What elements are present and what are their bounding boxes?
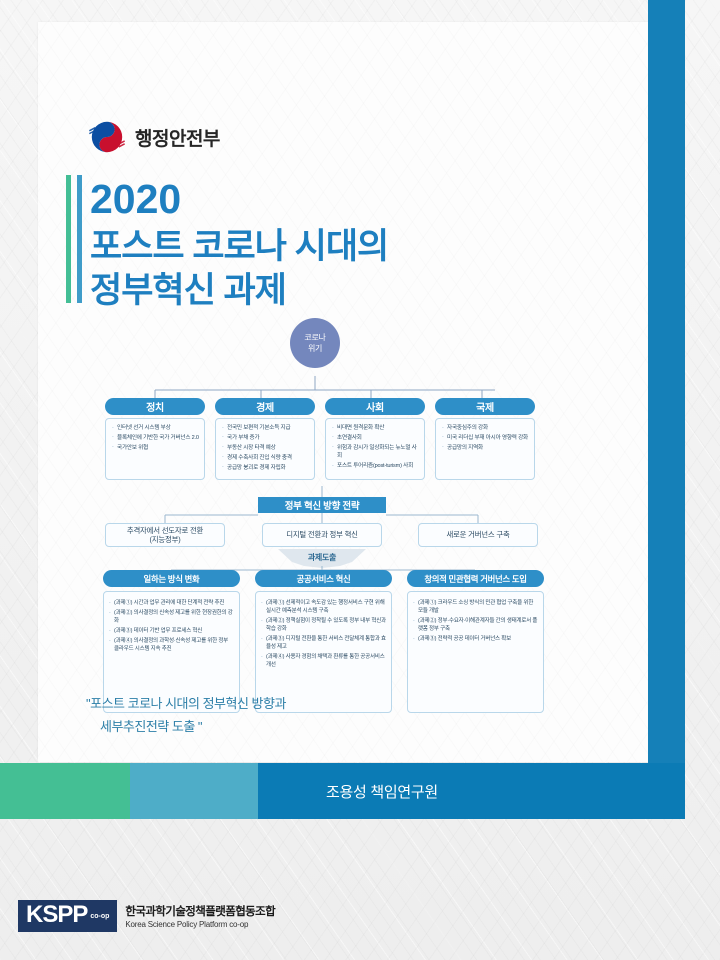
corona-label-line2: 위기 [308, 343, 322, 354]
task-title: 공공서비스 혁신 [255, 570, 392, 587]
list-item: (과제④) 의사결정의 과학성·신속성 제고를 위한 정부 클라우드 시스템 지… [108, 637, 234, 653]
accent-bar-blue [77, 175, 82, 303]
corona-crisis-node: 코로나 위기 [282, 310, 348, 376]
footer-bar-darkblue: 조용성 책임연구원 [258, 763, 685, 819]
list-item: (과제①) 크라우드 소싱 방식의 민관 협업 구축을 위한 모듈 개발 [412, 599, 538, 615]
category-box-economy: 경제 전국민 보편적 기본소득 지급 국가 부채 증가 부동산 시장 타격 예상… [215, 398, 315, 480]
list-item: 포스트 투어리즘(post-turism) 사회 [331, 462, 420, 470]
kspp-org-name: 한국과학기술정책플랫폼협동조합 Korea Science Policy Pla… [125, 903, 275, 929]
list-item: 비대면 원격문화 확산 [331, 424, 420, 432]
list-item: (과제①) 시간과 업무 관리에 대한 단계적 전략 추진 [108, 599, 234, 607]
list-item: 국가 부채 증가 [221, 434, 310, 442]
category-box-society: 사회 비대면 원격문화 확산 초연결사회 위험과 감시가 일상화되는 뉴노멀 사… [325, 398, 425, 480]
list-item: 공급망의 지역화 [441, 444, 530, 452]
list-item: 경제 수축사회 진입 식량 충격 [221, 454, 310, 462]
kspp-wordmark: KSPP co-op [18, 900, 117, 932]
list-item: (과제④) 사용자 경험의 채택과 환류를 통한 공공서비스 개선 [260, 653, 386, 669]
list-item: (과제②) 의사결정의 신속성 제고를 위한 현장권한의 강화 [108, 609, 234, 625]
kspp-name-korean: 한국과학기술정책플랫폼협동조합 [125, 903, 275, 919]
kspp-name-english: Korea Science Policy Platform co-op [125, 920, 275, 929]
ministry-branding: 행정안전부 [88, 118, 220, 156]
kspp-mark-text: KSPP [26, 902, 87, 928]
impact-categories: 정치 인터넷 선거 시스템 부상 블록체인에 기반한 국가 거버넌스 2.0 국… [105, 398, 545, 486]
corona-crisis-core: 코로나 위기 [290, 318, 340, 368]
list-item: 블록체인에 기반한 국가 거버넌스 2.0 [111, 434, 200, 442]
list-item: 국가안보 위협 [111, 444, 200, 452]
task-title: 일하는 방식 변화 [103, 570, 240, 587]
category-title: 정치 [105, 398, 205, 415]
arrow-label-task-derivation: 과제도출 [284, 551, 360, 564]
year-label: 2020 [90, 176, 181, 223]
list-item: 자국중심주의 강화 [441, 424, 530, 432]
category-title: 사회 [325, 398, 425, 415]
strategy-box-governance: 새로운 거버넌스 구축 [418, 523, 538, 547]
strategy-line1: 새로운 거버넌스 구축 [446, 530, 509, 540]
presentation-slide: 행정안전부 2020 포스트 코로나 시대의 정부혁신 과제 코로나 위기 [0, 0, 720, 886]
strategy-line1: 추격자에서 선도자로 전환 [127, 526, 203, 536]
closing-quote: "포스트 코로나 시대의 정부혁신 방향과 세부추진전략 도출 " [86, 692, 486, 738]
kspp-logo: KSPP co-op 한국과학기술정책플랫폼협동조합 Korea Science… [18, 900, 275, 932]
list-item: 위험과 감시가 일상화되는 뉴노멀 사회 [331, 444, 420, 461]
footer-bar-lightblue [130, 763, 258, 819]
list-item: 미국 리더십 부재 아시아 영향력 강화 [441, 434, 530, 442]
category-items: 인터넷 선거 시스템 부상 블록체인에 기반한 국가 거버넌스 2.0 국가안보… [105, 418, 205, 480]
footer-bar-green [0, 763, 130, 819]
presenter-name: 조용성 책임연구원 [326, 781, 438, 802]
strategy-box-digital: 디지털 전환과 정부 혁신 [262, 523, 382, 547]
list-item: (과제②) 정부·수요자·이해관계자들 간의 생태계로서 플랫폼 정부 구축 [412, 617, 538, 633]
strategy-line2: (지능정부) [150, 535, 181, 545]
list-item: 인터넷 선거 시스템 부상 [111, 424, 200, 432]
list-item: (과제③) 디지털 전환을 통한 서비스 전달체계 통합과 효율성 제고 [260, 635, 386, 651]
list-item: (과제③) 전략적 공공 데이터 거버넌스 확보 [412, 635, 538, 643]
list-item: (과제②) 정책실험이 정착될 수 있도록 정부 내부 혁신과 학습 강화 [260, 617, 386, 633]
list-item: 초연결사회 [331, 434, 420, 442]
strategy-banner: 정부 혁신 방향 전략 [258, 497, 386, 513]
ministry-name: 행정안전부 [135, 124, 220, 151]
category-items: 비대면 원격문화 확산 초연결사회 위험과 감시가 일상화되는 뉴노멀 사회 포… [325, 418, 425, 480]
kspp-coop-text: co-op [90, 904, 109, 930]
category-title: 경제 [215, 398, 315, 415]
list-item: 공급망 붕괴로 경제 자립화 [221, 464, 310, 472]
right-accent-stripe [648, 0, 685, 764]
page-title-line2: 정부혁신 과제 [90, 262, 286, 313]
list-item: (과제①) 선제적이고 속도감 있는 행정서비스 구현 위해 실시간 예측분석 … [260, 599, 386, 615]
task-title: 창의적 민관협력 거버넌스 도입 [407, 570, 544, 587]
quote-line2: 세부추진전략 도출 " [86, 715, 486, 738]
list-item: 전국민 보편적 기본소득 지급 [221, 424, 310, 432]
corona-label-line1: 코로나 [304, 332, 325, 343]
quote-line1: "포스트 코로나 시대의 정부혁신 방향과 [86, 696, 286, 711]
title-accent-bars [66, 175, 84, 303]
category-box-international: 국제 자국중심주의 강화 미국 리더십 부재 아시아 영향력 강화 공급망의 지… [435, 398, 535, 480]
list-item: (과제③) 데이터 기반 업무 프로세스 혁신 [108, 627, 234, 635]
taegeuk-logo-icon [88, 118, 126, 156]
list-item: 부동산 시장 타격 예상 [221, 444, 310, 452]
strategy-line1: 디지털 전환과 정부 혁신 [286, 530, 358, 540]
accent-bar-green [66, 175, 71, 303]
category-box-politics: 정치 인터넷 선거 시스템 부상 블록체인에 기반한 국가 거버넌스 2.0 국… [105, 398, 205, 480]
strategy-box-leader: 추격자에서 선도자로 전환 (지능정부) [105, 523, 225, 547]
category-title: 국제 [435, 398, 535, 415]
category-items: 전국민 보편적 기본소득 지급 국가 부채 증가 부동산 시장 타격 예상 경제… [215, 418, 315, 480]
category-items: 자국중심주의 강화 미국 리더십 부재 아시아 영향력 강화 공급망의 지역화 [435, 418, 535, 480]
